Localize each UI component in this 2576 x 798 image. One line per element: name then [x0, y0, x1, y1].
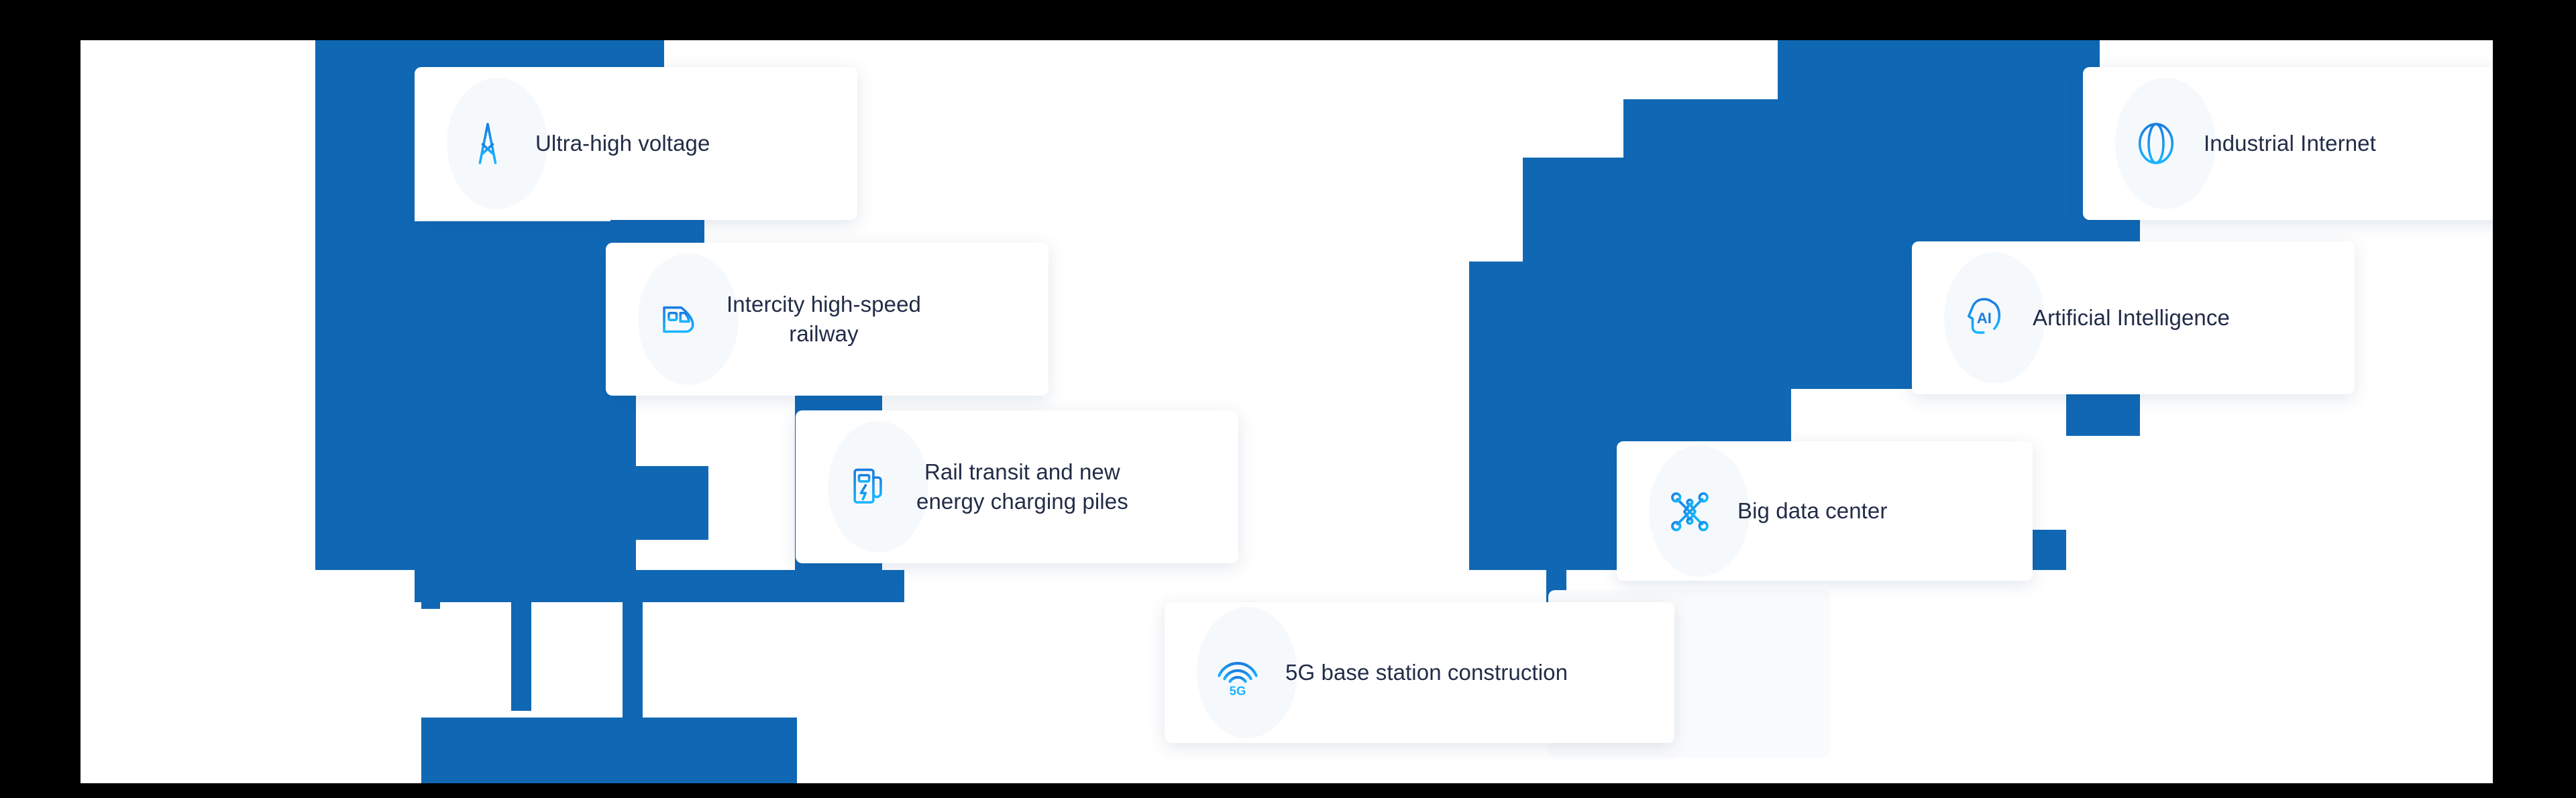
infographic-canvas: Ultra-high voltage Intercity high-speed … — [80, 40, 2493, 783]
ai-head-icon: AI — [1960, 293, 2010, 343]
card-label: Industrial Internet — [2204, 129, 2376, 158]
charging-pile-icon — [844, 462, 894, 512]
card-charging-piles[interactable]: Rail transit and new energy charging pil… — [796, 410, 1238, 563]
card-label: Artificial Intelligence — [2033, 303, 2230, 333]
card-label: Rail transit and new energy charging pil… — [916, 457, 1128, 516]
blue-block-mid-rail — [562, 570, 904, 602]
card-5g-base-station[interactable]: 5G 5G base station construction — [1165, 602, 1674, 743]
blue-block-left-drop-a — [421, 494, 440, 609]
wifi-5g-icon: 5G — [1213, 648, 1263, 697]
high-speed-train-icon — [654, 294, 704, 344]
power-tower-icon — [463, 119, 513, 168]
blue-block-mid-foot — [421, 718, 797, 783]
card-label: Ultra-high voltage — [535, 129, 710, 158]
wifi-badge-text: 5G — [1230, 684, 1246, 697]
globe-icon — [2131, 119, 2181, 168]
blue-block-left-drop-b — [511, 602, 531, 711]
card-intercity-rail[interactable]: Intercity high-speed railway — [606, 243, 1049, 396]
card-big-data-center[interactable]: Big data center — [1617, 441, 2033, 581]
network-nodes-icon — [1665, 486, 1715, 536]
card-label: 5G base station construction — [1285, 658, 1568, 687]
screenshot-stage: Ultra-high voltage Intercity high-speed … — [0, 0, 2576, 798]
card-label: Big data center — [1737, 496, 1887, 526]
card-label: Intercity high-speed railway — [727, 290, 921, 349]
ai-badge-text: AI — [1977, 310, 1992, 327]
card-industrial-internet[interactable]: Industrial Internet — [2083, 67, 2493, 220]
blue-block-mid-top-tab — [514, 466, 708, 540]
blue-block-left-step2 — [315, 221, 651, 382]
card-artificial-intelligence[interactable]: AI Artificial Intelligence — [1912, 241, 2355, 394]
card-ultra-high-voltage[interactable]: Ultra-high voltage — [415, 67, 857, 220]
